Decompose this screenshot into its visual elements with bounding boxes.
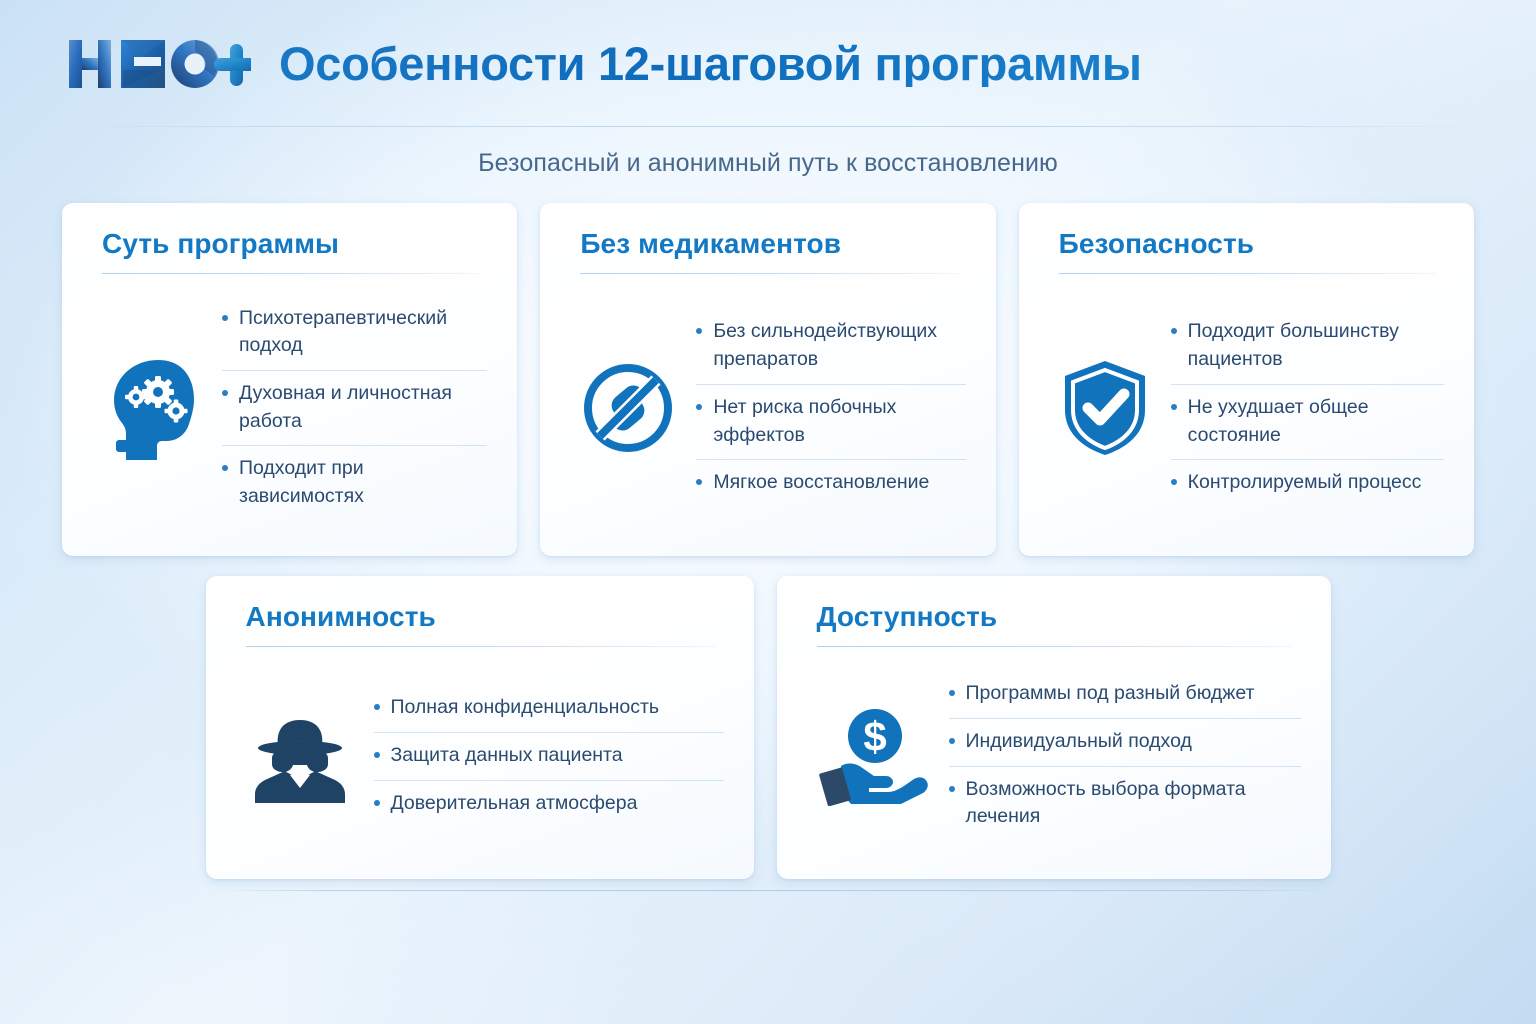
bullet-dot-icon <box>374 800 380 806</box>
list-item: Полная конфиденциальность <box>374 685 724 733</box>
bullet-text: Контролируемый процесс <box>1188 469 1444 497</box>
bullet-text: Возможность выбора формата лечения <box>966 776 1301 831</box>
card-anonimnost[interactable]: Анонимность Полная конфид <box>206 576 754 879</box>
bullet-dot-icon <box>374 704 380 710</box>
card-title: Без медикаментов <box>580 229 965 258</box>
list-item: Доверительная атмосфера <box>374 781 724 828</box>
bullet-text: Психотерапевтический подход <box>239 305 487 360</box>
footer-divider <box>216 890 1330 891</box>
hand-coin-icon: $ <box>817 706 929 806</box>
bullet-text: Полная конфиденциальность <box>391 694 724 722</box>
list-item: Духовная и личностная работа <box>222 371 487 446</box>
card-body: Полная конфиденциальность Защита данных … <box>246 647 724 855</box>
card-bullet-list: Подходит большинству пациентов Не ухудша… <box>1171 309 1444 506</box>
list-item: Нет риска побочных эффектов <box>696 385 965 460</box>
list-item: Защита данных пациента <box>374 733 724 781</box>
svg-text:$: $ <box>863 713 886 760</box>
neo-plus-logo <box>66 34 251 94</box>
bullet-text: Без сильнодействующих препаратов <box>713 318 965 373</box>
card-title: Анонимность <box>246 602 724 631</box>
bullet-dot-icon <box>949 738 955 744</box>
card-bullet-list: Без сильнодействующих препаратов Нет рис… <box>696 309 965 506</box>
card-title: Доступность <box>817 602 1301 631</box>
bullet-dot-icon <box>222 315 228 321</box>
bullet-text: Доверительная атмосфера <box>391 790 724 818</box>
bullet-text: Не ухудшает общее состояние <box>1188 394 1444 449</box>
bullet-dot-icon <box>696 404 702 410</box>
card-bez-medikamentov[interactable]: Без медикаментов Без сильно <box>540 203 995 556</box>
list-item: Подходит при зависимостях <box>222 446 487 520</box>
bullet-text: Подходит большинству пациентов <box>1188 318 1444 373</box>
spy-hat-icon <box>246 702 354 810</box>
bullet-dot-icon <box>222 465 228 471</box>
card-body: Подходит большинству пациентов Не ухудша… <box>1059 274 1444 532</box>
logo-plus-icon <box>214 44 251 86</box>
head-gears-icon <box>102 356 202 460</box>
bullet-text: Индивидуальный подход <box>966 728 1301 756</box>
bullet-dot-icon <box>1171 404 1177 410</box>
list-item: Возможность выбора формата лечения <box>949 767 1301 841</box>
cards-row-bottom: Анонимность Полная конфид <box>0 576 1536 879</box>
page-subtitle: Безопасный и анонимный путь к восстановл… <box>0 149 1536 178</box>
list-item: Индивидуальный подход <box>949 719 1301 767</box>
bullet-text: Подходит при зависимостях <box>239 455 487 510</box>
bullet-text: Программы под разный бюджет <box>966 680 1301 708</box>
list-item: Без сильнодействующих препаратов <box>696 309 965 384</box>
bullet-dot-icon <box>222 390 228 396</box>
card-body: Психотерапевтический подход Духовная и л… <box>102 274 487 532</box>
logo-letter-o <box>171 40 219 88</box>
shield-check-icon <box>1059 358 1151 458</box>
card-body: $ Программы под разный бюджет Индивидуал… <box>817 647 1301 855</box>
bullet-text: Нет риска побочных эффектов <box>713 394 965 449</box>
list-item: Мягкое восстановление <box>696 460 965 507</box>
page-title: Особенности 12-шаговой программы <box>279 40 1142 87</box>
header-divider <box>52 126 1490 127</box>
bullet-dot-icon <box>696 479 702 485</box>
card-body: Без сильнодействующих препаратов Нет рис… <box>580 274 965 532</box>
bullet-dot-icon <box>374 752 380 758</box>
logo-letter-h <box>69 40 111 88</box>
page-header: Особенности 12-шаговой программы <box>0 0 1536 126</box>
card-dostupnost[interactable]: Доступность $ Программы под разный бюдже… <box>777 576 1331 879</box>
bullet-dot-icon <box>696 328 702 334</box>
bullet-text: Мягкое восстановление <box>713 469 965 497</box>
logo-letter-e <box>121 40 165 88</box>
no-pills-icon <box>580 360 676 456</box>
bullet-text: Духовная и личностная работа <box>239 380 487 435</box>
list-item: Подходит большинству пациентов <box>1171 309 1444 384</box>
bullet-dot-icon <box>949 786 955 792</box>
list-item: Программы под разный бюджет <box>949 671 1301 719</box>
bullet-dot-icon <box>1171 479 1177 485</box>
card-bezopasnost[interactable]: Безопасность Подходит большинству пациен… <box>1019 203 1474 556</box>
list-item: Психотерапевтический подход <box>222 296 487 371</box>
card-title: Безопасность <box>1059 229 1444 258</box>
card-bullet-list: Психотерапевтический подход Духовная и л… <box>222 296 487 521</box>
card-title: Суть программы <box>102 229 487 258</box>
bullet-text: Защита данных пациента <box>391 742 724 770</box>
bullet-dot-icon <box>1171 328 1177 334</box>
bullet-dot-icon <box>949 690 955 696</box>
card-sut-programmy[interactable]: Суть программы <box>62 203 517 556</box>
list-item: Не ухудшает общее состояние <box>1171 385 1444 460</box>
card-bullet-list: Полная конфиденциальность Защита данных … <box>374 685 724 827</box>
list-item: Контролируемый процесс <box>1171 460 1444 507</box>
card-bullet-list: Программы под разный бюджет Индивидуальн… <box>949 671 1301 841</box>
cards-row-top: Суть программы <box>0 203 1536 556</box>
